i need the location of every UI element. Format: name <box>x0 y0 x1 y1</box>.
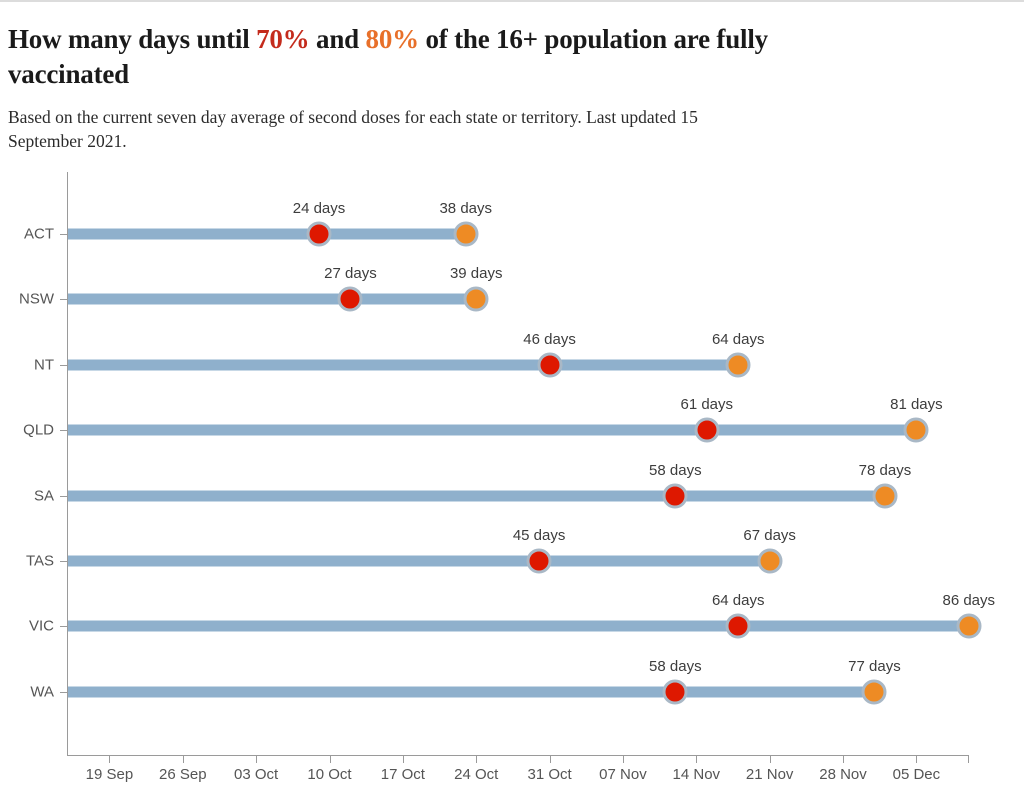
x-axis-label-6: 31 Oct <box>527 766 571 783</box>
chart-plot-area: ACTNSWNTQLDSATASVICWA 19 Sep26 Sep03 Oct… <box>0 0 1024 796</box>
marker-label-wa-70pct: 58 days <box>649 658 702 675</box>
y-tick-mark <box>60 299 67 300</box>
marker-label-act-80pct: 38 days <box>439 200 492 217</box>
marker-qld-70pct[interactable] <box>694 418 719 443</box>
y-tick-mark <box>60 626 67 627</box>
y-axis-label-wa: WA <box>0 683 54 700</box>
range-bar-nt <box>68 359 739 370</box>
x-axis-label-8: 14 Nov <box>673 766 721 783</box>
x-tick-mark <box>183 755 184 763</box>
marker-sa-80pct[interactable] <box>872 483 897 508</box>
marker-label-tas-70pct: 45 days <box>513 527 566 544</box>
y-axis-labels: ACTNSWNTQLDSATASVICWA <box>0 0 54 796</box>
range-bar-vic <box>68 621 969 632</box>
x-tick-mark <box>843 755 844 763</box>
x-axis-label-5: 24 Oct <box>454 766 498 783</box>
marker-label-tas-80pct: 67 days <box>743 527 796 544</box>
marker-nt-80pct[interactable] <box>726 352 751 377</box>
marker-label-qld-70pct: 61 days <box>680 396 733 413</box>
marker-label-vic-80pct: 86 days <box>942 592 995 609</box>
range-bar-act <box>68 229 466 240</box>
x-tick-mark <box>770 755 771 763</box>
y-axis-label-vic: VIC <box>0 618 54 635</box>
marker-label-nt-80pct: 64 days <box>712 331 765 348</box>
y-axis-label-sa: SA <box>0 487 54 504</box>
y-tick-mark <box>60 496 67 497</box>
x-tick-mark <box>916 755 917 763</box>
x-axis-label-11: 05 Dec <box>893 766 941 783</box>
marker-vic-70pct[interactable] <box>726 614 751 639</box>
marker-sa-70pct[interactable] <box>663 483 688 508</box>
x-axis-label-2: 03 Oct <box>234 766 278 783</box>
x-tick-mark <box>550 755 551 763</box>
x-axis-label-1: 26 Sep <box>159 766 207 783</box>
x-axis-label-9: 21 Nov <box>746 766 794 783</box>
x-tick-mark <box>109 755 110 763</box>
marker-label-sa-80pct: 78 days <box>859 462 912 479</box>
marker-label-qld-80pct: 81 days <box>890 396 943 413</box>
marker-wa-70pct[interactable] <box>663 679 688 704</box>
x-axis-label-4: 17 Oct <box>381 766 425 783</box>
y-tick-mark <box>60 692 67 693</box>
x-tick-mark <box>696 755 697 763</box>
y-axis-label-tas: TAS <box>0 553 54 570</box>
marker-label-wa-80pct: 77 days <box>848 658 901 675</box>
marker-nt-70pct[interactable] <box>537 352 562 377</box>
y-axis-label-qld: QLD <box>0 422 54 439</box>
marker-vic-80pct[interactable] <box>956 614 981 639</box>
range-bar-sa <box>68 490 885 501</box>
marker-tas-80pct[interactable] <box>757 549 782 574</box>
marker-label-nsw-70pct: 27 days <box>324 265 377 282</box>
marker-label-vic-70pct: 64 days <box>712 592 765 609</box>
range-bar-nsw <box>68 294 477 305</box>
x-tick-mark <box>476 755 477 763</box>
marker-act-80pct[interactable] <box>453 222 478 247</box>
range-bar-qld <box>68 425 917 436</box>
marker-act-70pct[interactable] <box>307 222 332 247</box>
range-bar-wa <box>68 686 875 697</box>
x-axis-label-7: 07 Nov <box>599 766 647 783</box>
y-axis-label-nt: NT <box>0 356 54 373</box>
marker-nsw-70pct[interactable] <box>338 287 363 312</box>
marker-label-sa-70pct: 58 days <box>649 462 702 479</box>
marker-tas-70pct[interactable] <box>527 549 552 574</box>
x-axis-label-10: 28 Nov <box>819 766 867 783</box>
marker-qld-80pct[interactable] <box>904 418 929 443</box>
x-tick-mark <box>403 755 404 763</box>
x-axis-label-3: 10 Oct <box>307 766 351 783</box>
marker-wa-80pct[interactable] <box>862 679 887 704</box>
marker-label-nsw-80pct: 39 days <box>450 265 503 282</box>
marker-label-act-70pct: 24 days <box>293 200 346 217</box>
y-tick-mark <box>60 234 67 235</box>
x-tick-mark <box>623 755 624 763</box>
y-axis-label-nsw: NSW <box>0 291 54 308</box>
range-bar-tas <box>68 556 770 567</box>
y-tick-mark <box>60 365 67 366</box>
x-axis-line <box>67 755 968 756</box>
y-tick-mark <box>60 561 67 562</box>
marker-label-nt-70pct: 46 days <box>523 331 576 348</box>
y-axis-line <box>67 172 68 756</box>
x-tick-mark <box>330 755 331 763</box>
x-tick-mark-end <box>968 755 969 763</box>
marker-nsw-80pct[interactable] <box>464 287 489 312</box>
x-tick-mark <box>256 755 257 763</box>
y-tick-mark <box>60 430 67 431</box>
y-axis-label-act: ACT <box>0 226 54 243</box>
x-axis-label-0: 19 Sep <box>86 766 134 783</box>
